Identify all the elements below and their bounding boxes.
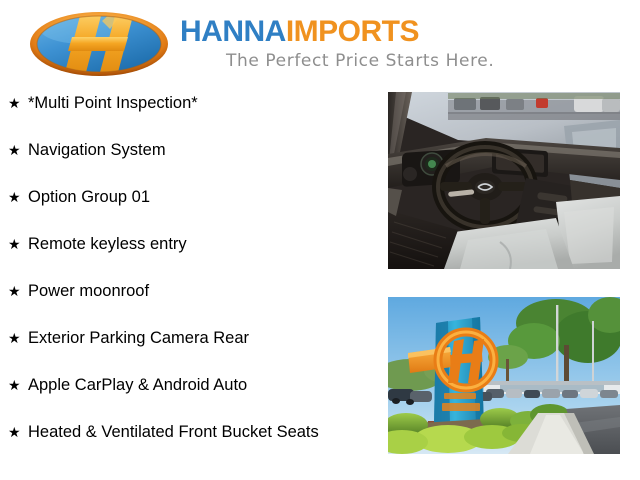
list-item: ★ Apple CarPlay & Android Auto (0, 374, 372, 421)
star-bullet-icon: ★ (8, 327, 21, 349)
star-bullet-icon: ★ (8, 280, 21, 302)
list-item: ★ Option Group 01 (0, 186, 372, 233)
header-banner: HANNAIMPORTS The Perfect Price Starts He… (0, 0, 640, 86)
brand-name-primary: HANNA (180, 15, 286, 48)
list-item-label: Option Group 01 (28, 186, 372, 208)
list-item-label: Navigation System (28, 139, 372, 161)
brand-wordmark: HANNAIMPORTS (180, 15, 520, 49)
star-bullet-icon: ★ (8, 186, 21, 208)
list-item: ★ Exterior Parking Camera Rear (0, 327, 372, 374)
list-item: ★ Navigation System (0, 139, 372, 186)
list-item-label: Heated & Ventilated Front Bucket Seats (28, 421, 372, 443)
list-item-label: Power moonroof (28, 280, 372, 302)
star-bullet-icon: ★ (8, 421, 21, 443)
vehicle-features-list: ★ *Multi Point Inspection* ★ Navigation … (0, 92, 372, 468)
list-item: ★ *Multi Point Inspection* (0, 92, 372, 139)
list-item-label: *Multi Point Inspection* (28, 92, 372, 114)
list-item-label: Exterior Parking Camera Rear (28, 327, 372, 349)
star-bullet-icon: ★ (8, 92, 21, 114)
star-bullet-icon: ★ (8, 374, 21, 396)
list-item: ★ Heated & Ventilated Front Bucket Seats (0, 421, 372, 468)
list-item: ★ Power moonroof (0, 280, 372, 327)
list-item-label: Remote keyless entry (28, 233, 372, 255)
dealership-sign-photo[interactable] (388, 297, 620, 454)
star-bullet-icon: ★ (8, 233, 21, 255)
hanna-oval-h-logo-icon (28, 11, 170, 77)
brand-text-block: HANNAIMPORTS The Perfect Price Starts He… (180, 15, 520, 77)
list-item-label: Apple CarPlay & Android Auto (28, 374, 372, 396)
vehicle-interior-photo[interactable] (388, 92, 620, 269)
list-item: ★ Remote keyless entry (0, 233, 372, 280)
brand-logo: HANNAIMPORTS The Perfect Price Starts He… (28, 9, 518, 79)
brand-name-secondary: IMPORTS (286, 15, 419, 48)
star-bullet-icon: ★ (8, 139, 21, 161)
brand-tagline: The Perfect Price Starts Here. (226, 51, 494, 71)
